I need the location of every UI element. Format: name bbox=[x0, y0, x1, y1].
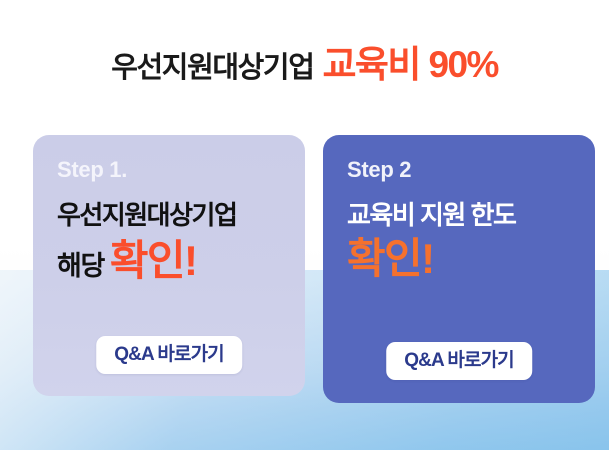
promo-banner: 우선지원대상기업교육비 90% Step 1. 우선지원대상기업 해당확인! Q… bbox=[0, 0, 609, 450]
page-title: 우선지원대상기업교육비 90% bbox=[0, 46, 609, 83]
headline-accent-text: 교육비 90% bbox=[322, 44, 497, 85]
step-2-label: Step 2 bbox=[347, 159, 571, 181]
step-2-qa-link-button[interactable]: Q&A 바로가기 bbox=[386, 342, 532, 380]
step-2-confirm-line: 확인! bbox=[347, 238, 571, 280]
step-cards-container: Step 1. 우선지원대상기업 해당확인! Q&A 바로가기 Step 2 교… bbox=[33, 135, 588, 405]
step-1-title: 우선지원대상기업 bbox=[57, 201, 281, 230]
headline-primary-text: 우선지원대상기업 bbox=[111, 52, 313, 84]
step-1-qa-link-button[interactable]: Q&A 바로가기 bbox=[96, 336, 242, 374]
step-1-confirm-emphasis: 확인! bbox=[110, 237, 196, 284]
step-1-confirm-line: 해당확인! bbox=[57, 240, 281, 282]
step-1-confirm-prefix: 해당 bbox=[57, 251, 104, 281]
step-2-confirm-emphasis: 확인! bbox=[347, 235, 433, 282]
step-card-2[interactable]: Step 2 교육비 지원 한도 확인! Q&A 바로가기 bbox=[323, 135, 595, 403]
step-card-1[interactable]: Step 1. 우선지원대상기업 해당확인! Q&A 바로가기 bbox=[33, 135, 305, 396]
step-2-title: 교육비 지원 한도 bbox=[347, 201, 571, 230]
step-1-label: Step 1. bbox=[57, 159, 281, 181]
